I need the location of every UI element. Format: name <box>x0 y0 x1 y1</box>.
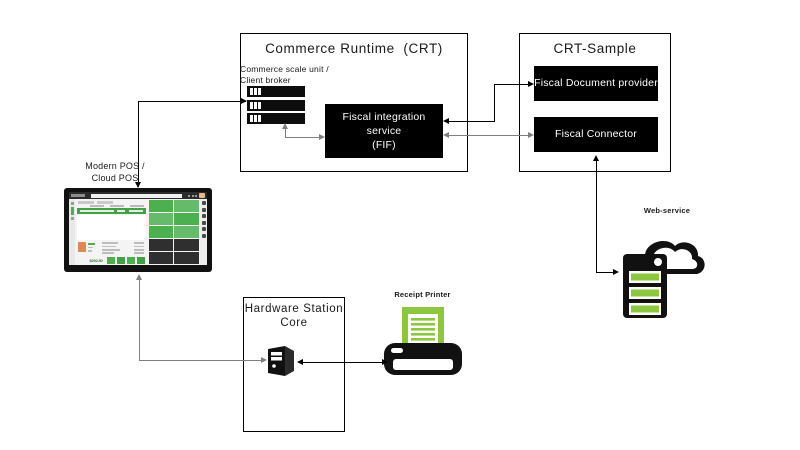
commerce-scale-unit-rack-icon <box>247 86 305 124</box>
hardware-station-server-icon <box>265 345 297 377</box>
pos-customer-avatar <box>78 242 86 252</box>
connector-pos-to-csu-arrowhead-down <box>135 182 141 188</box>
connector-pos-to-csu-vertical <box>138 101 139 187</box>
connector-csu-to-fif-arrowhead-up <box>282 123 288 129</box>
receipt-printer-icon <box>382 305 464 377</box>
pos-action-tile[interactable] <box>149 252 174 264</box>
connector-fif-to-fiscal-connector <box>447 135 530 136</box>
connector-hardware-to-printer <box>301 362 385 363</box>
connector-fiscal-connector-to-webservice-vertical <box>596 160 597 272</box>
pos-top-bar <box>69 192 207 199</box>
connector-fif-to-fdp-arrowhead-left <box>443 118 449 124</box>
pos-pay-cash-button[interactable] <box>107 257 115 264</box>
connector-fif-to-fdp-lower <box>447 121 495 122</box>
pos-action-button[interactable] <box>149 213 174 225</box>
pos-pay-more-button[interactable] <box>137 257 145 264</box>
connector-fif-to-fiscal-connector-arrowhead-left <box>443 132 449 138</box>
node-fiscal-connector[interactable]: Fiscal Connector <box>534 117 658 152</box>
pos-body: $292.50 <box>69 199 207 265</box>
pos-screen: $292.50 <box>69 192 207 265</box>
connector-pos-to-csu-arrowhead-right <box>241 98 247 104</box>
node-fiscal-integration-service-label: Fiscal integration service (FIF) <box>325 110 443 153</box>
connector-csu-to-fif-arrowhead-right <box>319 134 325 140</box>
pos-pay-card-button[interactable] <box>117 257 125 264</box>
receipt-printer-label: Receipt Printer <box>375 290 470 300</box>
connector-hardware-to-printer-arrowhead-right <box>382 359 388 365</box>
pos-action-tile[interactable] <box>149 239 174 251</box>
container-commerce-runtime-title: Commerce Runtime (CRT) <box>240 41 468 56</box>
connector-fiscal-connector-to-webservice-arrowhead-right <box>613 269 619 275</box>
pos-search-input[interactable] <box>91 194 182 198</box>
connector-pos-to-hardware-horizontal <box>139 360 264 361</box>
pos-action-pad <box>148 199 200 265</box>
pos-selected-line-item[interactable] <box>77 208 146 214</box>
connector-fif-to-fdp-arrowhead-right <box>528 81 534 87</box>
connector-fif-to-fiscal-connector-arrowhead-right <box>528 132 534 138</box>
connector-pos-to-hardware-arrowhead-up <box>136 274 142 280</box>
pos-user-avatar[interactable] <box>199 193 205 199</box>
pos-action-button[interactable] <box>174 200 199 212</box>
pos-footer-bar: $292.50 <box>76 256 147 265</box>
container-crt-sample-title: CRT-Sample <box>519 41 671 56</box>
pos-summary-row <box>76 240 147 256</box>
pos-pay-other-button[interactable] <box>127 257 135 264</box>
pos-total-amount: $292.50 <box>90 258 103 263</box>
commerce-scale-unit-label: Commerce scale unit / Client broker <box>240 64 360 87</box>
pos-action-button[interactable] <box>174 213 199 225</box>
node-fiscal-integration-service[interactable]: Fiscal integration service (FIF) <box>325 104 443 158</box>
architecture-diagram: Commerce Runtime (CRT) Commerce scale un… <box>0 0 800 450</box>
connector-fiscal-connector-to-webservice-arrowhead-up <box>593 155 599 161</box>
connector-pos-to-hardware-arrowhead-right <box>261 357 267 363</box>
pos-action-button[interactable] <box>149 226 174 238</box>
container-hardware-station-core-title: Hardware Station Core <box>243 302 345 331</box>
connector-fif-to-fdp-vertical <box>494 84 495 122</box>
connector-pos-to-hardware-vertical <box>139 280 140 360</box>
pos-line-items-area <box>77 215 146 241</box>
pos-action-tile[interactable] <box>174 239 199 251</box>
pos-customer-card[interactable] <box>77 241 98 255</box>
pos-action-button[interactable] <box>149 200 174 212</box>
modern-pos-terminal[interactable]: $292.50 <box>64 188 212 272</box>
node-fiscal-document-provider-label: Fiscal Document provider <box>534 76 658 90</box>
connector-fif-to-fdp-upper <box>494 84 530 85</box>
pos-app-title <box>71 194 85 197</box>
pos-action-tile[interactable] <box>174 252 199 264</box>
connector-hardware-to-printer-arrowhead-left <box>297 359 303 365</box>
pos-action-button[interactable] <box>174 226 199 238</box>
web-service-label: Web-service <box>622 206 712 216</box>
pos-totals-list <box>100 241 146 255</box>
modern-pos-label: Modern POS / Cloud POS <box>60 160 170 184</box>
web-service-icon <box>609 228 709 318</box>
pos-utility-sidebar[interactable] <box>200 199 207 265</box>
pos-window-controls[interactable] <box>188 195 197 197</box>
node-fiscal-connector-label: Fiscal Connector <box>555 127 637 141</box>
pos-transaction-panel: $292.50 <box>75 199 148 265</box>
connector-csu-to-fif-horizontal <box>285 137 323 138</box>
node-fiscal-document-provider[interactable]: Fiscal Document provider <box>534 66 658 101</box>
connector-pos-to-csu-horizontal <box>138 101 246 102</box>
